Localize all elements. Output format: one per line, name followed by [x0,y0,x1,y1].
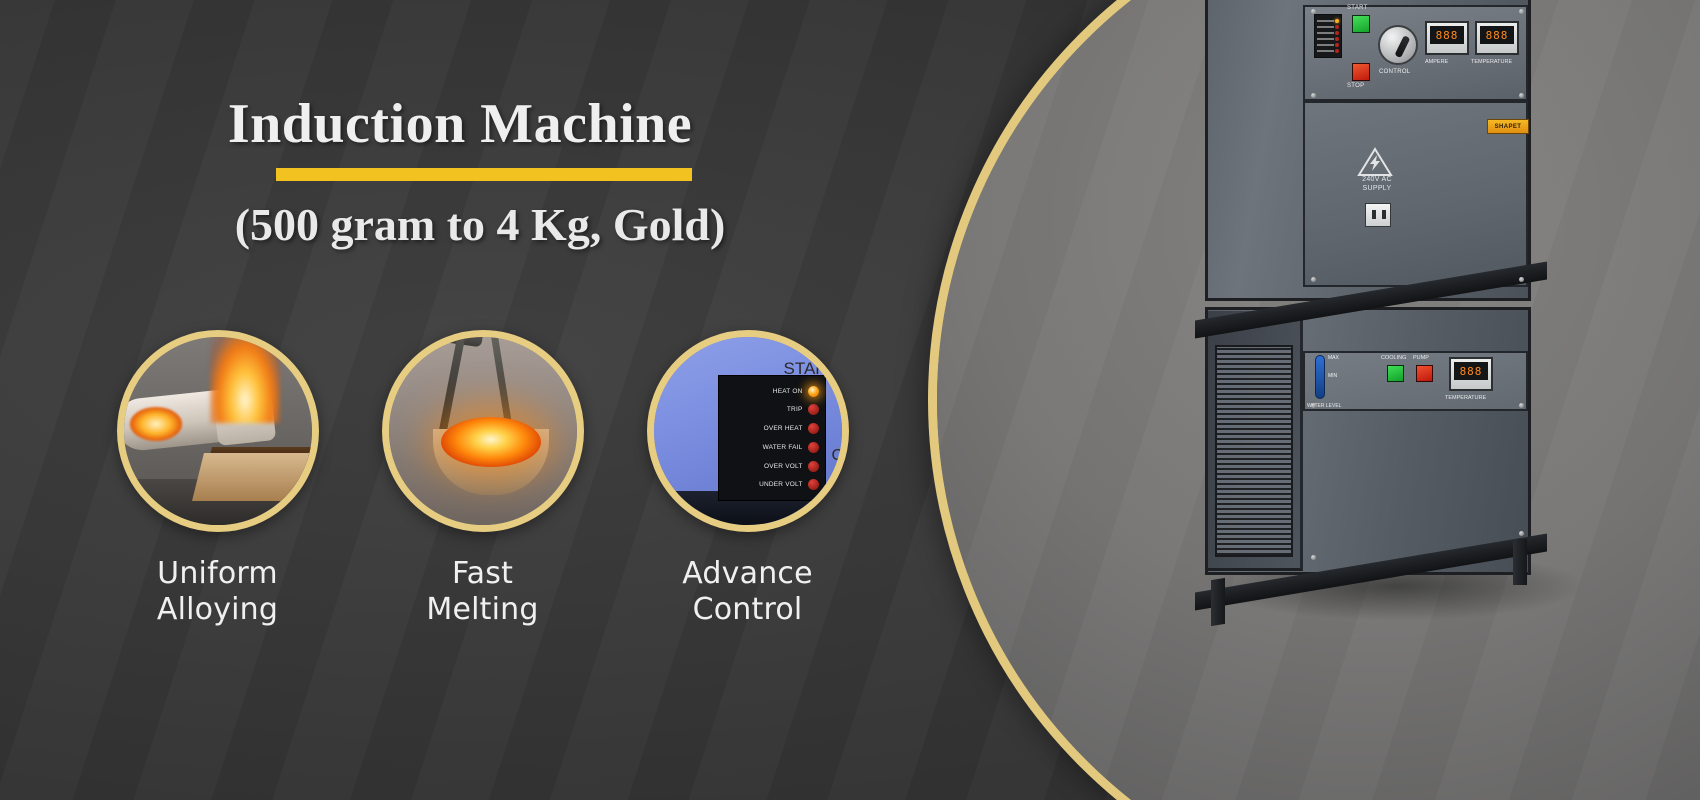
under-volt-led-icon [808,479,819,490]
trip-led-icon [808,404,819,415]
indicator-label: TRIP [787,406,803,413]
ventilation-grille [1215,345,1293,557]
ampere-value: 888 [1436,29,1459,42]
water-fail-led-icon [808,442,819,453]
trip-led-icon [1335,25,1339,29]
control-knob-label: CONTROL [1379,69,1410,75]
molten-crucible-photo [382,330,584,532]
water-level-gauge [1315,355,1325,399]
panel-screw [1519,531,1524,536]
photo-partial-text: C [832,447,844,465]
indicator-row: OVER VOLT [725,459,819,473]
ampere-meter: 888 [1425,21,1469,55]
temperature-screen: 888 [1480,26,1514,44]
indicator-row [1317,18,1339,23]
indicator-label: WATER FAIL [763,444,803,451]
feature-label-line1: Fast [375,556,590,592]
panel-screw [1519,9,1524,14]
indicator-row: OVER HEAT [725,422,819,436]
feature-list: Uniform Alloying Fast Melting [95,330,915,660]
control-panel-photo: START STOP C HEAT ON TRIP [647,330,849,532]
meter-foot [1454,380,1488,386]
temperature-meter: 888 [1475,21,1519,55]
panel-screw [1311,403,1316,408]
temperature-label: TEMPERATURE [1471,59,1512,65]
glowing-tip [130,407,182,441]
over-heat-led-icon [808,423,819,434]
feature-label: Advance Control [640,556,855,628]
knob-pointer-icon [1394,35,1410,58]
indicator-panel: HEAT ON TRIP OVER HEAT WATER FAIL [718,375,826,501]
heat-on-led-icon [1335,19,1339,23]
cooling-label: COOLING [1381,355,1406,361]
pump-button[interactable] [1416,365,1433,382]
feature-label: Uniform Alloying [110,556,325,628]
panel-screw [1311,9,1316,14]
panel-screw [1519,277,1524,282]
supply-word: SUPPLY [1339,184,1415,193]
machine-indicator-strip [1314,14,1342,58]
panel-screw [1311,555,1316,560]
glowing-rod-photo [117,330,319,532]
machine-leg-right [1513,539,1527,585]
indicator-row [1317,24,1339,29]
high-voltage-warning-icon [1357,147,1393,177]
tong-holder [417,330,483,347]
indicator-row: UNDER VOLT [725,478,819,492]
ampere-screen: 888 [1430,26,1464,44]
control-knob[interactable] [1378,25,1418,65]
over-volt-led-icon [808,461,819,472]
indicator-label: OVER VOLT [764,463,803,470]
water-min-label: MIN [1328,373,1337,379]
panel-screw [1519,403,1524,408]
brand-name: SHAPET [1495,124,1522,130]
supply-voltage: 240V AC [1339,175,1415,184]
indicator-row [1317,43,1339,48]
panel-screw [1311,93,1316,98]
chiller-temperature-value: 888 [1460,365,1483,378]
indicator-row: WATER FAIL [725,440,819,454]
product-photo-panel: MAX MIN WATER LEVEL COOLING PUMP 888 TEM… [928,0,1700,800]
panel-screw [1519,93,1524,98]
feature-label-line2: Melting [375,592,590,628]
indicator-label: OVER HEAT [764,425,803,432]
feature-label-line1: Advance [640,556,855,592]
feature-advance-control: START STOP C HEAT ON TRIP [640,330,855,628]
feature-uniform-alloying: Uniform Alloying [110,330,325,628]
feature-label-line1: Uniform [110,556,325,592]
page-title: Induction Machine [0,92,920,156]
chiller-temperature-screen: 888 [1454,362,1488,380]
ampere-label: AMPERE [1425,59,1448,65]
refractory-brick [192,453,319,501]
water-fail-led-icon [1335,37,1339,41]
power-socket-icon [1365,203,1391,227]
flame [210,331,280,423]
tong-arm-left [439,330,467,431]
power-supply-label: 240V AC SUPPLY [1339,175,1415,193]
indicator-label: UNDER VOLT [759,481,802,488]
machine-start-button[interactable] [1352,15,1370,33]
over-volt-led-icon [1335,43,1339,47]
cooling-button[interactable] [1387,365,1404,382]
feature-label-line2: Control [640,592,855,628]
heat-on-led-icon [808,386,819,397]
title-underline-rule [276,168,692,181]
page-subtitle: (500 gram to 4 Kg, Gold) [0,198,960,251]
feature-label: Fast Melting [375,556,590,628]
machine-start-label: START [1347,5,1368,11]
brand-tag: SHAPET [1487,119,1529,134]
feature-fast-melting: Fast Melting [375,330,590,628]
temperature-value: 888 [1486,29,1509,42]
machine-stop-button[interactable] [1352,63,1370,81]
indicator-label: HEAT ON [773,388,803,395]
water-max-label: MAX [1328,355,1339,361]
molten-metal-glow [441,417,541,467]
machine-leg-left [1211,578,1225,626]
indicator-row [1317,30,1339,35]
indicator-row: HEAT ON [725,384,819,398]
panel-screw [1311,277,1316,282]
feature-label-line2: Alloying [110,592,325,628]
indicator-row: TRIP [725,403,819,417]
chiller-temperature-meter: 888 [1449,357,1493,391]
pump-label: PUMP [1413,355,1429,361]
indicator-row [1317,49,1339,54]
chiller-temperature-label: TEMPERATURE [1445,395,1486,401]
tong-arm-right [489,330,511,423]
over-heat-led-icon [1335,31,1339,35]
induction-machine-product: MAX MIN WATER LEVEL COOLING PUMP 888 TEM… [1187,0,1607,651]
under-volt-led-icon [1335,49,1339,53]
indicator-row [1317,37,1339,42]
induction-machine-banner: Induction Machine (500 gram to 4 Kg, Gol… [0,0,1700,800]
machine-stop-label: STOP [1347,83,1364,89]
